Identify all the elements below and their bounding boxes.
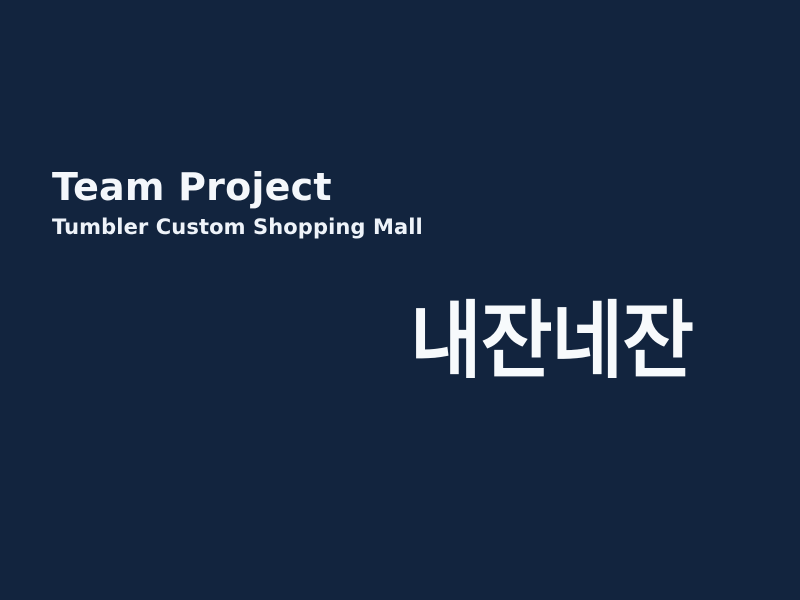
page-subtitle: Tumbler Custom Shopping Mall <box>52 216 423 239</box>
brand-block: 내잔네잔 <box>410 296 690 388</box>
title-slide: Team Project Tumbler Custom Shopping Mal… <box>0 0 800 600</box>
page-title: Team Project <box>52 168 423 208</box>
title-block: Team Project Tumbler Custom Shopping Mal… <box>52 168 423 239</box>
brand-name: 내잔네잔 <box>410 300 693 384</box>
